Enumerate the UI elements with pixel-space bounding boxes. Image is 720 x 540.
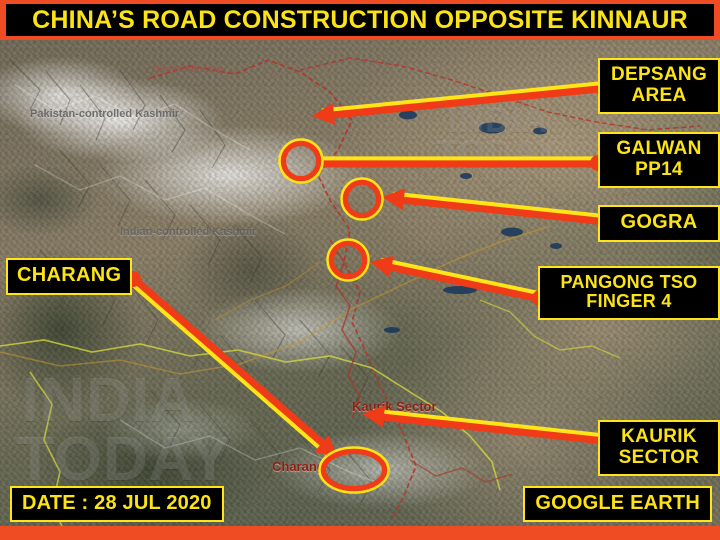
charang-marker	[320, 448, 389, 493]
footer-bar	[0, 526, 720, 540]
callout-line-1: PANGONG TSO	[561, 272, 698, 292]
galwan-pp14-marker	[280, 140, 323, 183]
screenshot-frame: INDIA TODAY INDIA TODAY Gilgit-Baltistan…	[0, 0, 720, 540]
callout-line-1: KAURIK	[621, 426, 697, 447]
gogra-marker	[342, 179, 383, 220]
callout-line-1: GOGRA	[620, 211, 697, 233]
callout-charang[interactable]: CHARANG	[6, 258, 132, 295]
callout-gogra[interactable]: GOGRA	[598, 205, 720, 242]
callout-line-2: SECTOR	[609, 448, 709, 469]
depsang-arrow	[312, 83, 600, 124]
pangong-arrow	[370, 256, 548, 306]
callout-line-2: PP14	[609, 160, 709, 181]
arrow-head	[312, 103, 335, 125]
gogra-arrow	[382, 188, 616, 222]
callout-line-2: FINGER 4	[549, 292, 709, 311]
date-badge: DATE : 28 JUL 2020	[10, 486, 224, 522]
arrow-head	[362, 405, 385, 427]
source-badge: GOOGLE EARTH	[523, 486, 712, 522]
callout-line-2: AREA	[609, 86, 709, 107]
page-title: CHINA’S ROAD CONSTRUCTION OPPOSITE KINNA…	[6, 4, 714, 36]
galwan-arrow	[322, 155, 606, 171]
callout-line-1: GALWAN	[616, 138, 701, 159]
kaurik-arrow	[362, 405, 604, 440]
arrow-head	[370, 256, 394, 278]
callout-depsang-area[interactable]: DEPSANG AREA	[598, 58, 720, 114]
callout-kaurik-sector[interactable]: KAURIK SECTOR	[598, 420, 720, 476]
charang-arrow	[125, 271, 338, 458]
pangong-finger4-marker	[328, 240, 369, 281]
arrow-head	[382, 188, 405, 210]
callout-line-1: DEPSANG	[611, 64, 707, 85]
callout-line-1: CHARANG	[17, 264, 121, 286]
header-bar: CHINA’S ROAD CONSTRUCTION OPPOSITE KINNA…	[0, 0, 720, 40]
callout-pangong-tso-finger-4[interactable]: PANGONG TSO FINGER 4	[538, 266, 720, 320]
callout-galwan-pp14[interactable]: GALWAN PP14	[598, 132, 720, 188]
